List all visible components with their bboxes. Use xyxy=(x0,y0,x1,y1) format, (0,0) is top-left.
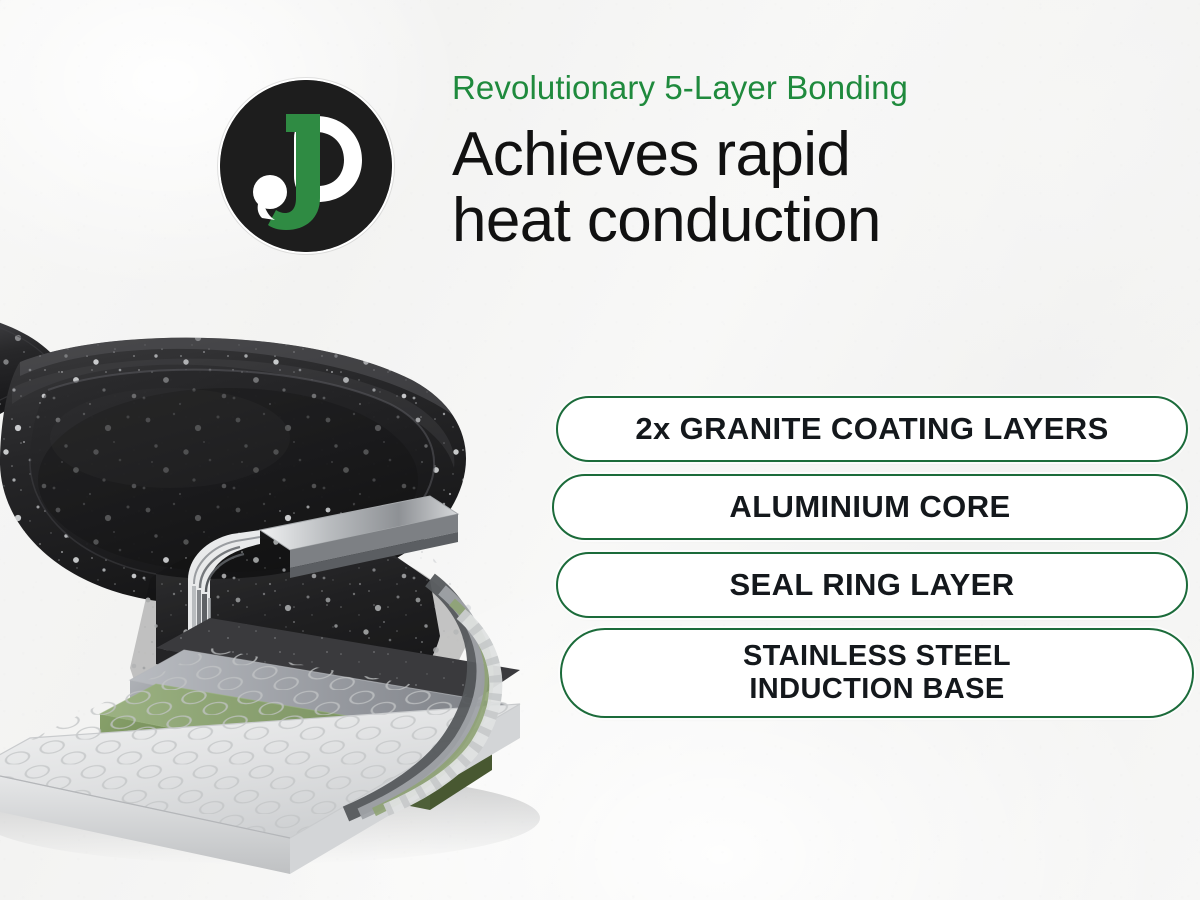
feature-pill-aluminium-core[interactable]: ALUMINIUM CORE xyxy=(552,474,1188,540)
feature-pill-stainless-steel-induction-base[interactable]: STAINLESS STEEL INDUCTION BASE xyxy=(560,628,1194,718)
feature-label: SEAL RING LAYER xyxy=(729,567,1014,602)
feature-label: ALUMINIUM CORE xyxy=(729,489,1010,524)
jp-monogram-icon xyxy=(220,80,392,252)
feature-label: STAINLESS STEEL INDUCTION BASE xyxy=(743,640,1011,706)
feature-pill-granite-coating-layers[interactable]: 2x GRANITE COATING LAYERS xyxy=(556,396,1188,462)
feature-label: 2x GRANITE COATING LAYERS xyxy=(635,411,1108,446)
headline-line-1: Achieves rapid xyxy=(452,120,850,189)
feature-label-line-1: STAINLESS STEEL xyxy=(743,640,1011,672)
infographic-canvas: Revolutionary 5-Layer Bonding Achieves r… xyxy=(0,0,1200,900)
headline-line-2: heat conduction xyxy=(452,188,1172,254)
brand-logo-jp xyxy=(218,78,394,254)
feature-label-line-2: INDUCTION BASE xyxy=(749,673,1004,705)
page-title: Achieves rapid heat conduction xyxy=(452,122,1172,253)
eyebrow-text: Revolutionary 5-Layer Bonding xyxy=(452,70,1152,107)
feature-pill-seal-ring-layer[interactable]: SEAL RING LAYER xyxy=(556,552,1188,618)
